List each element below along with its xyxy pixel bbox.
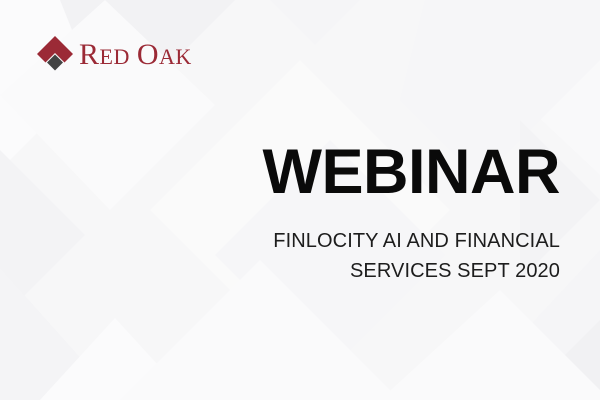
bg-shape-bottom-left-peak: [40, 318, 190, 400]
wordmark-ed: ED: [100, 44, 130, 69]
bg-shape-top-right-a: [470, 0, 600, 120]
bg-shape-left-chevron: [0, 150, 85, 320]
slide-title: WEBINAR: [200, 140, 560, 206]
bg-shape-bottom-left-triangle: [0, 300, 60, 400]
red-oak-logo[interactable]: REDOAK: [36, 33, 192, 75]
red-oak-diamond-mark-icon: [36, 35, 74, 73]
bg-shape-bottom-right-b: [520, 320, 600, 400]
wordmark-o: O: [137, 38, 159, 71]
bg-shape-top-center: [270, 0, 360, 45]
bg-shape-bottom-left-wedge: [0, 268, 118, 400]
slide-subtitle: FINLOCITY AI AND FINANCIAL SERVICES SEPT…: [200, 226, 560, 287]
webinar-title-slide: REDOAK WEBINAR FINLOCITY AI AND FINANCIA…: [0, 0, 600, 400]
red-oak-wordmark: REDOAK: [79, 40, 192, 70]
wordmark-r: R: [79, 38, 100, 71]
slide-subtitle-line-1: FINLOCITY AI AND FINANCIAL: [200, 226, 560, 256]
bg-shape-bottom-right-c: [380, 290, 600, 400]
bg-shape-diamond-left: [0, 0, 215, 210]
slide-subtitle-line-2: SERVICES SEPT 2020: [200, 256, 560, 286]
headline-block: WEBINAR FINLOCITY AI AND FINANCIAL SERVI…: [200, 140, 560, 286]
wordmark-ak: AK: [159, 44, 192, 69]
bg-shape-top-left-a: [0, 0, 170, 170]
